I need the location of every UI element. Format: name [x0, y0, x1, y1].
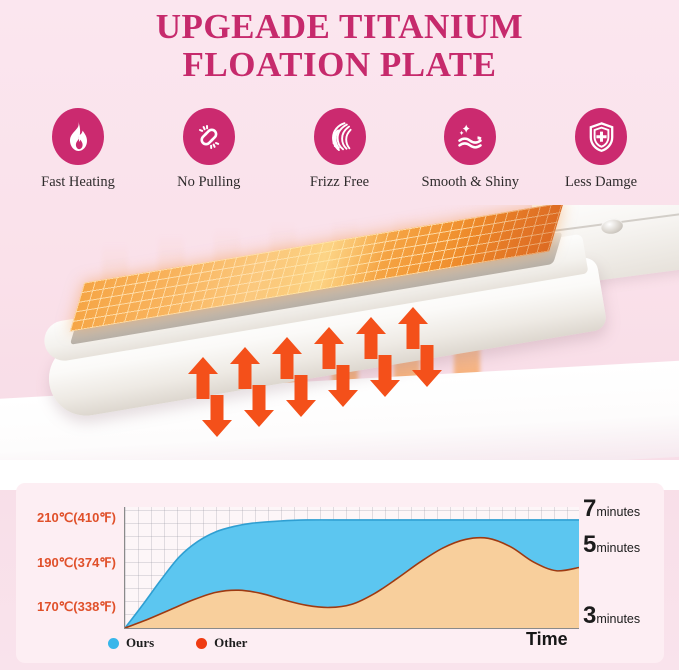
chart-legend: Ours Other: [108, 635, 247, 651]
right-tick-number: 7: [583, 495, 596, 522]
heat-arrow-up: [272, 337, 302, 379]
right-tick-number: 3: [583, 602, 596, 629]
heat-arrow-up: [398, 307, 428, 349]
chart-plot-area: [124, 507, 579, 629]
heat-arrow-up: [356, 317, 386, 359]
y-tick-label: 210℃(410℉): [37, 510, 116, 526]
feature-label: Less Damge: [565, 174, 637, 191]
broken-chain-icon: [183, 108, 235, 165]
heat-arrow-down: [328, 365, 358, 407]
right-tick-label: 3minutes: [583, 602, 640, 630]
comparison-chart: 210℃(410℉) 190℃(374℉) 170℃(338℉) 7minute…: [16, 483, 664, 663]
right-tick-unit: minutes: [596, 612, 640, 626]
title-line-1: UPGEADE TITANIUM: [0, 8, 679, 46]
feature-list: Fast Heating: [0, 108, 679, 191]
feature-label: Frizz Free: [310, 174, 369, 191]
feature-label: Smooth & Shiny: [422, 174, 520, 191]
chart-x-axis-label: Time: [526, 629, 568, 650]
feature-item-less-damage: Less Damge: [537, 108, 665, 191]
feature-label: No Pulling: [177, 174, 240, 191]
title-line-2: FLOATION PLATE: [0, 46, 679, 84]
feature-item-smooth-shiny: Smooth & Shiny: [406, 108, 534, 191]
hair-profile-icon: [314, 108, 366, 165]
infographic-page: UPGEADE TITANIUM FLOATION PLATE Fast Hea…: [0, 0, 679, 670]
right-tick-label: 7minutes: [583, 495, 640, 523]
heat-arrow-down: [286, 375, 316, 417]
chart-series-areas: [125, 507, 579, 628]
heat-arrow-down: [412, 345, 442, 387]
product-image: [0, 205, 679, 490]
y-tick-label: 190℃(374℉): [37, 555, 116, 571]
feature-item-fast-heating: Fast Heating: [14, 108, 142, 191]
page-title: UPGEADE TITANIUM FLOATION PLATE: [0, 8, 679, 84]
right-tick-label: 5minutes: [583, 531, 640, 559]
feature-item-no-pulling: No Pulling: [145, 108, 273, 191]
legend-swatch: [108, 638, 119, 649]
legend-swatch: [196, 638, 207, 649]
y-tick-label: 170℃(338℉): [37, 599, 116, 615]
right-tick-number: 5: [583, 531, 596, 558]
feature-item-frizz-free: Frizz Free: [276, 108, 404, 191]
shield-plus-icon: [575, 108, 627, 165]
legend-item-ours: Ours: [108, 635, 154, 651]
heat-arrow-down: [370, 355, 400, 397]
legend-label: Ours: [126, 635, 154, 651]
legend-item-other: Other: [196, 635, 247, 651]
feature-label: Fast Heating: [41, 174, 115, 191]
heat-arrow-down: [244, 385, 274, 427]
sparkle-wave-icon: [444, 108, 496, 165]
legend-label: Other: [214, 635, 247, 651]
right-tick-unit: minutes: [596, 505, 640, 519]
heat-arrow-up: [188, 357, 218, 399]
heat-arrow-up: [230, 347, 260, 389]
flame-icon: [52, 108, 104, 165]
heat-arrow-up: [314, 327, 344, 369]
heat-arrow-down: [202, 395, 232, 437]
right-tick-unit: minutes: [596, 541, 640, 555]
